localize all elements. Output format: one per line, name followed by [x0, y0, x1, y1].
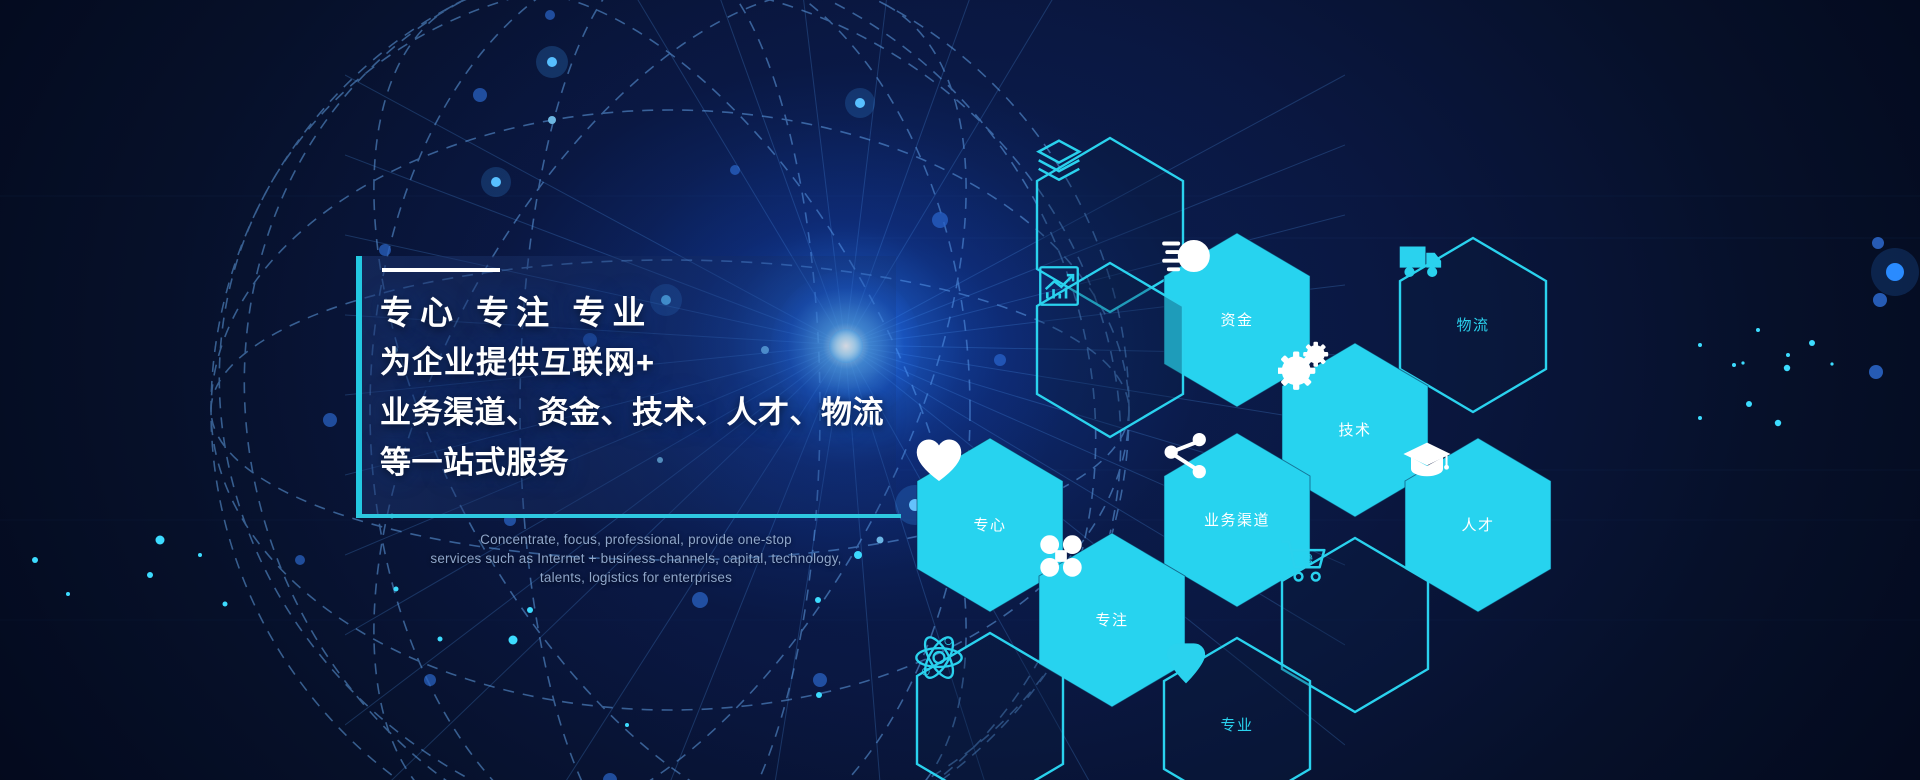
graduation-cap-icon — [1401, 436, 1453, 486]
layers-icon — [1033, 136, 1085, 186]
bar-chart-up-icon — [1033, 261, 1085, 311]
hexagon-chart[interactable] — [1033, 261, 1187, 439]
hexagon-label: 技术 — [1338, 423, 1371, 438]
svg-text:e: e — [1303, 547, 1313, 567]
shopping-cart-e-icon: e — [1278, 536, 1330, 586]
hexagon-label: 业务渠道 — [1204, 513, 1270, 528]
hexagon-pro[interactable]: 专业 — [1160, 636, 1314, 780]
truck-icon — [1396, 236, 1448, 286]
hexagon-label: 专注 — [1095, 613, 1128, 628]
hexagon-grid: 资金物流技术专心业务渠道人才专注e专业 — [0, 0, 1920, 780]
atom-icon — [913, 631, 965, 681]
clover-icon — [1035, 531, 1087, 581]
diamond-icon — [1160, 636, 1212, 686]
gears-icon — [1278, 341, 1330, 391]
share-nodes-icon — [1160, 431, 1212, 481]
hexagon-atom[interactable] — [913, 631, 1067, 780]
hexagon-label: 资金 — [1220, 313, 1253, 328]
hexagon-label: 专业 — [1220, 718, 1253, 733]
hexagon-label: 物流 — [1456, 318, 1489, 333]
heart-icon — [913, 436, 965, 486]
hexagon-label: 人才 — [1461, 518, 1494, 533]
banner-hero: 专心 专注 专业 为企业提供互联网+ 业务渠道、资金、技术、人才、物流 等一站式… — [0, 0, 1920, 780]
hexagon-label: 专心 — [973, 518, 1006, 533]
